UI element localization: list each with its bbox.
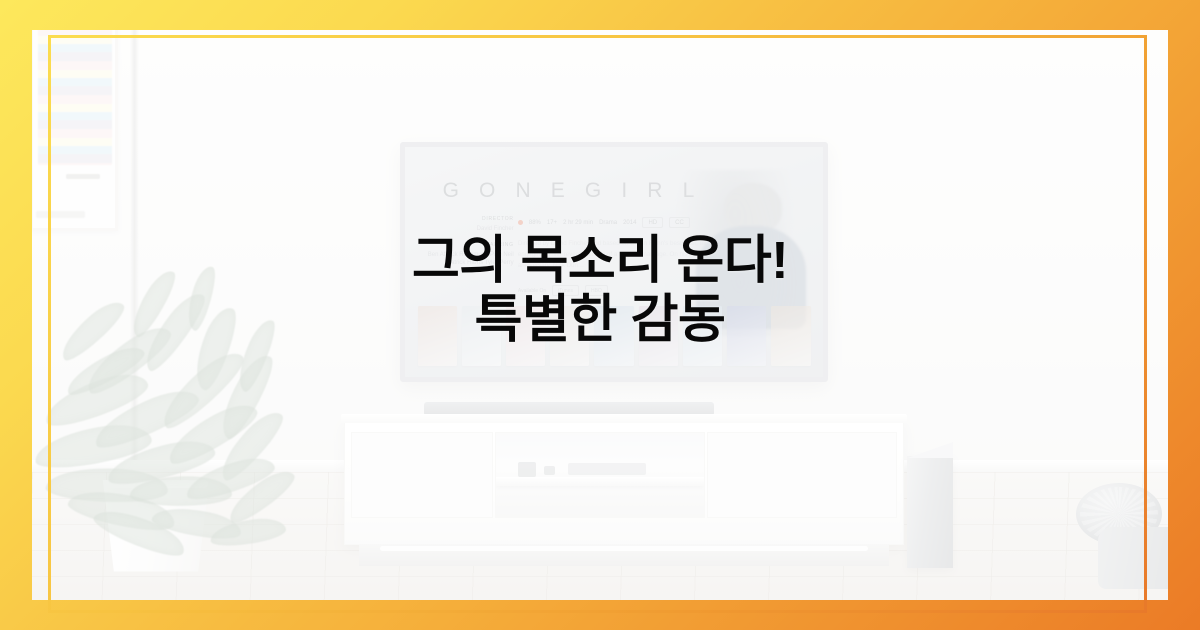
knitted-pouf (1076, 483, 1168, 589)
television: G O N E G I R L DIRECTOR David Fincher S… (400, 142, 828, 382)
starring-value: Ben Affleck Rosamund Pike Neil Patrick H… (422, 251, 514, 267)
tower-speaker (907, 456, 953, 568)
poster-thumbnail (550, 306, 589, 366)
artwork-signature (66, 174, 100, 179)
genre: Drama (599, 220, 617, 226)
tv-screen: G O N E G I R L DIRECTOR David Fincher S… (405, 147, 823, 377)
poster-thumbnail (418, 306, 457, 366)
movie-rating-row: 88% 17+ 2 hr 29 min Drama 2014 HD CC (518, 217, 690, 228)
director-label: DIRECTOR (422, 216, 514, 222)
runtime: 2 hr 29 min (563, 220, 593, 226)
year: 2014 (623, 220, 636, 226)
remote-device (518, 462, 536, 477)
photo-area: G O N E G I R L DIRECTOR David Fincher S… (32, 30, 1168, 600)
rating-score: 88% (529, 220, 541, 226)
hd-badge: HD (642, 217, 663, 228)
provider-hbo: HBO (585, 285, 608, 296)
console-bay-right (707, 432, 897, 518)
poster-carousel (418, 306, 811, 366)
starring-label: STARRING (422, 242, 514, 248)
console-top-surface (341, 414, 907, 423)
movie-credits: DIRECTOR David Fincher STARRING Ben Affl… (422, 216, 514, 267)
white-media-console (344, 420, 904, 545)
console-shelf (496, 477, 704, 486)
pouf-base (1098, 527, 1168, 589)
artwork-caption (36, 211, 85, 218)
striped-abstract-print (32, 30, 118, 231)
console-bay-left (351, 432, 493, 518)
available-on-label: Available On (518, 288, 546, 294)
availability-row: Available On iTunes HBO (518, 285, 608, 296)
age-rating: 17+ (547, 220, 557, 226)
director-value: David Fincher (422, 225, 514, 233)
console-bay-center (495, 432, 705, 518)
potted-houseplant (32, 232, 302, 572)
poster-thumbnail (727, 306, 766, 366)
provider-itunes: iTunes (552, 285, 579, 296)
tomato-icon (518, 220, 523, 225)
poster-thumbnail (771, 306, 810, 366)
small-device (544, 466, 555, 475)
artwork-stripes (38, 30, 112, 165)
living-room-scene: G O N E G I R L DIRECTOR David Fincher S… (32, 30, 1168, 600)
console-plinth (359, 544, 889, 566)
poster-thumbnail (683, 306, 722, 366)
poster-canvas: G O N E G I R L DIRECTOR David Fincher S… (0, 0, 1200, 630)
poster-thumbnail (506, 306, 545, 366)
player-device (568, 463, 646, 475)
poster-thumbnail (594, 306, 633, 366)
poster-thumbnail (462, 306, 501, 366)
poster-thumbnail (639, 306, 678, 366)
